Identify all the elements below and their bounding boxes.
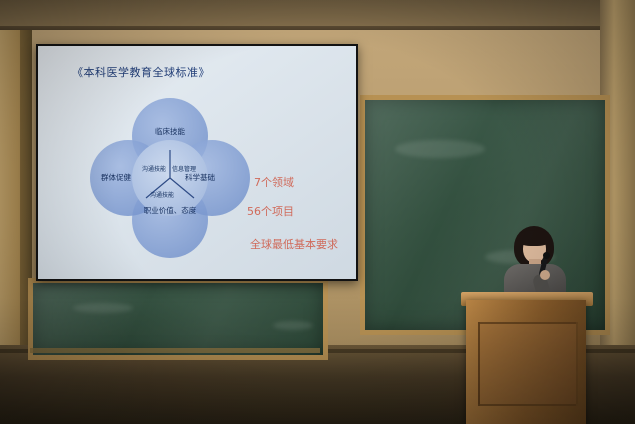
slide-surface: 《本科医学教育全球标准》 临床技能 群体促健 科学基础 职业价值、态度 沟通技能… (38, 46, 356, 279)
core-label-3: 沟通技能 (150, 190, 174, 199)
chalk-smudge (73, 303, 133, 313)
chalk-smudge (395, 140, 485, 158)
petal-label-top: 临床技能 (136, 126, 204, 137)
petal-diagram: 临床技能 群体促健 科学基础 职业价值、态度 沟通技能 信息管理 沟通技能 (90, 98, 250, 258)
chalk-tray (30, 348, 320, 353)
slide-stat-domains: 7个领域 (254, 174, 294, 190)
slide-stat-items: 56个项目 (247, 203, 294, 219)
petal-label-bottom: 职业价值、态度 (134, 206, 206, 216)
slide-stat-minimum: 全球最低基本要求 (250, 236, 338, 252)
core-label-2: 信息管理 (172, 164, 196, 173)
podium-front-panel (478, 322, 578, 406)
board-glare (33, 283, 323, 355)
lecture-hall-photo: 《本科医学教育全球标准》 临床技能 群体促健 科学基础 职业价值、态度 沟通技能… (0, 0, 635, 424)
core-label-1: 沟通技能 (142, 164, 166, 173)
microphone-head-icon (543, 252, 550, 259)
petal-label-left: 群体促健 (82, 172, 150, 183)
presenter-hand (540, 270, 550, 280)
petal-label-right: 科学基础 (166, 172, 234, 183)
slide-title: 《本科医学教育全球标准》 (72, 64, 210, 80)
presenter-fringe (517, 230, 551, 246)
chalk-smudge (273, 321, 313, 330)
projection-screen: 《本科医学教育全球标准》 临床技能 群体促健 科学基础 职业价值、态度 沟通技能… (36, 44, 358, 281)
